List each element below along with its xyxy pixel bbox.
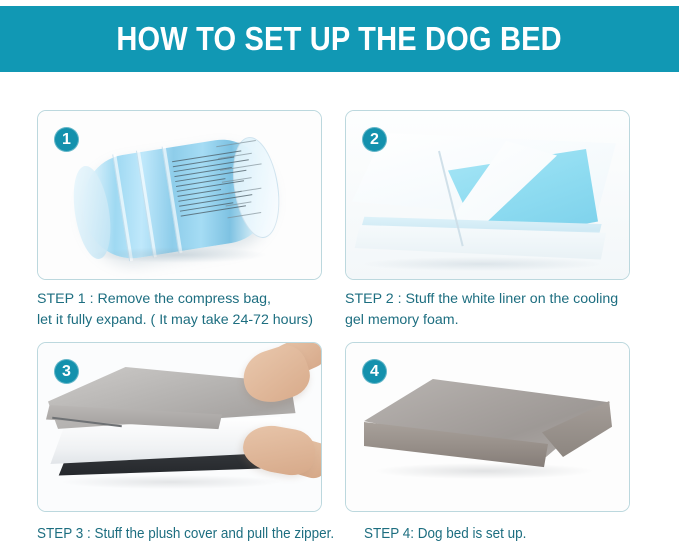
step-cell-3: 3 bbox=[37, 342, 342, 512]
step-3-caption-line-1: STEP 3 : Stuff the plush cover and pull … bbox=[37, 524, 334, 545]
slab-drop-shadow bbox=[364, 257, 600, 271]
steps-grid: 1 STEP 1 : Remove the compress bag, let … bbox=[0, 72, 679, 550]
step-4-photo-frame: 4 bbox=[345, 342, 630, 512]
step-1-caption: STEP 1 : Remove the compress bag, let it… bbox=[37, 289, 342, 331]
step-4-caption-line-1: STEP 4: Dog bed is set up. bbox=[364, 524, 526, 545]
finished-dog-bed-photo bbox=[346, 343, 629, 511]
step-1-caption-line-2: let it fully expand. ( It may take 24-72… bbox=[37, 310, 342, 331]
bed-drop-shadow bbox=[62, 475, 280, 489]
step-2-photo-frame: 2 bbox=[345, 110, 630, 280]
step-1-caption-line-1: STEP 1 : Remove the compress bag, bbox=[37, 289, 342, 310]
step-badge-1: 1 bbox=[54, 127, 79, 152]
step-2-caption-line-1: STEP 2 : Stuff the white liner on the co… bbox=[345, 289, 650, 310]
roll-drop-shadow bbox=[90, 247, 268, 263]
step-cell-4: 4 bbox=[345, 342, 650, 512]
step-1-photo-frame: 1 bbox=[37, 110, 322, 280]
mattress-slab-shape bbox=[352, 133, 616, 261]
plush-cover-pull-photo bbox=[38, 343, 321, 511]
step-4-caption: STEP 4: Dog bed is set up. bbox=[364, 524, 526, 545]
header-banner: HOW TO SET UP THE DOG BED bbox=[0, 6, 679, 72]
rolled-mattress-shape bbox=[75, 133, 279, 265]
step-2-caption-line-2: gel memory foam. bbox=[345, 310, 650, 331]
liner-over-gel-foam-photo bbox=[346, 111, 629, 279]
step-3-photo-frame: 3 bbox=[37, 342, 322, 512]
step-3-caption: STEP 3 : Stuff the plush cover and pull … bbox=[37, 524, 334, 545]
step-badge-4: 4 bbox=[362, 359, 387, 384]
step-cell-1: 1 STEP 1 : Remove the compress bag, let … bbox=[37, 110, 342, 331]
step-2-caption: STEP 2 : Stuff the white liner on the co… bbox=[345, 289, 650, 331]
compressed-roll-photo bbox=[38, 111, 321, 279]
step-badge-3: 3 bbox=[54, 359, 79, 384]
finished-bed-drop-shadow bbox=[376, 463, 592, 479]
page-title: HOW TO SET UP THE DOG BED bbox=[117, 20, 562, 58]
step-cell-2: 2 STEP 2 : Stuff the white liner on the … bbox=[345, 110, 650, 331]
step-badge-2: 2 bbox=[362, 127, 387, 152]
